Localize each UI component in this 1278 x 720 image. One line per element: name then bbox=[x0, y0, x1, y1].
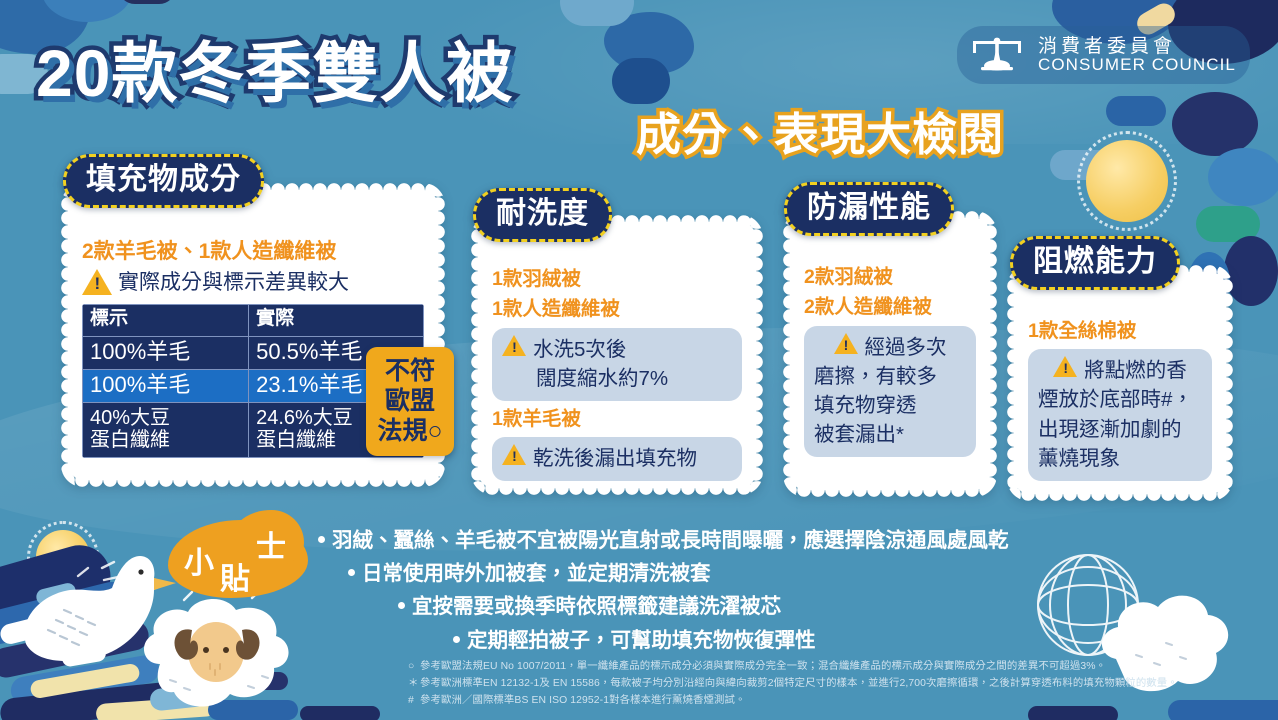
consumer-council-logo: 消費者委員會 CONSUMER COUNCIL bbox=[957, 26, 1250, 84]
footnote-text: 參考歐洲／國際標準BS EN ISO 12952-1對各樣本進行薰燒香煙測試。 bbox=[420, 695, 745, 706]
card-lead-item: 1款羊毛被 bbox=[492, 406, 742, 432]
tip-text: 羽絨、蠶絲、羊毛被不宜被陽光直射或長時間曝曬，應選擇陰涼通風處風乾 bbox=[332, 529, 1009, 552]
decor-pebble bbox=[232, 672, 288, 690]
decor-pebble bbox=[300, 706, 380, 720]
footnote-row: #參考歐洲／國際標準BS EN ISO 12952-1對各樣本進行薰燒香煙測試。 bbox=[408, 693, 1268, 710]
card-flame-retardance: 阻燃能力 1款全絲棉被 將點燃的香 煙放於底部時#， 出現逐漸加劇的 薰燒現象 bbox=[1014, 272, 1226, 494]
decor-pebble bbox=[0, 578, 132, 647]
warning-text: 將點燃的香 bbox=[1084, 356, 1187, 385]
warning-box: 經過多次 磨擦，有較多 填充物穿透 被套漏出* bbox=[804, 326, 976, 457]
table-col-label: 標示 bbox=[83, 305, 249, 336]
warning-triangle-icon bbox=[834, 333, 858, 354]
decor-blob bbox=[1208, 148, 1278, 206]
warning-text: 被套漏出* bbox=[814, 420, 966, 449]
warning-triangle-icon bbox=[502, 335, 526, 356]
warning-text: 水洗5次後 bbox=[533, 335, 626, 364]
decor-blob bbox=[1172, 92, 1258, 156]
footnote-text: 參考歐洲標準EN 12132-1及 EN 15586，每款被子均分別沿經向與緯向… bbox=[420, 678, 1178, 689]
warning-box-line: 乾洗後漏出填充物 bbox=[502, 444, 732, 473]
warning-box-line: 將點燃的香 bbox=[1038, 356, 1202, 385]
decor-blob bbox=[604, 12, 694, 74]
moon-decoration bbox=[1086, 140, 1168, 222]
warning-triangle-icon bbox=[502, 444, 526, 465]
tip-text: 宜按需要或換季時依照標籤建議洗濯被芯 bbox=[412, 595, 781, 618]
moon-decoration bbox=[36, 530, 90, 584]
warning-box: 將點燃的香 煙放於底部時#， 出現逐漸加劇的 薰燒現象 bbox=[1028, 349, 1212, 480]
footnote-row: ○參考歐盟法規EU No 1007/2011，單一纖維產品的標示成分必須與實際成… bbox=[408, 659, 1268, 676]
card-lead-filling: 2款羊毛被、1款人造纖維被 bbox=[82, 238, 424, 266]
decor-blob bbox=[0, 538, 118, 636]
footnote-mark: # bbox=[408, 693, 420, 710]
tips-badge: 小 貼 士 bbox=[168, 520, 308, 598]
footnote-mark: ＊ bbox=[408, 676, 420, 693]
decor-blob bbox=[42, 0, 132, 22]
eu-noncompliance-badge: 不符歐盟法規○ bbox=[366, 347, 454, 456]
warning-text: 闊度縮水約7% bbox=[502, 364, 732, 393]
tip-item: 羽絨、蠶絲、羊毛被不宜被陽光直射或長時間曝曬，應選擇陰涼通風處風乾 bbox=[318, 524, 1198, 557]
decor-pebble bbox=[29, 663, 140, 700]
decor-pebble bbox=[0, 618, 151, 681]
warning-triangle-icon bbox=[82, 269, 112, 295]
sheep-illustration bbox=[130, 580, 315, 720]
footnote-mark: ○ bbox=[408, 659, 420, 676]
warning-box: 水洗5次後 闊度縮水約7% bbox=[492, 328, 742, 401]
decor-pebble bbox=[35, 581, 78, 606]
warning-text: 煙放於底部時#， bbox=[1038, 385, 1202, 414]
tip-text: 日常使用時外加被套，並定期清洗被套 bbox=[362, 562, 711, 585]
footnotes: ○參考歐盟法規EU No 1007/2011，單一纖維產品的標示成分必須與實際成… bbox=[408, 659, 1268, 710]
page-subtitle: 成分、表現大檢閱 bbox=[636, 98, 1004, 163]
warning-text: 填充物穿透 bbox=[814, 391, 966, 420]
decor-blob bbox=[1106, 96, 1166, 126]
cell-label: 40%大豆蛋白纖維 bbox=[83, 402, 249, 457]
tip-item: 日常使用時外加被套，並定期清洗被套 bbox=[318, 557, 1198, 590]
card-lead-item: 1款全絲棉被 bbox=[1028, 318, 1212, 344]
warning-box-line: 經過多次 bbox=[814, 333, 966, 362]
warning-text: 磨擦，有較多 bbox=[814, 362, 966, 391]
decor-pebble bbox=[208, 700, 298, 720]
infographic-root: 20款冬季雙人被 成分、表現大檢閱 消費者委員會 CONSUMER COUNCI… bbox=[0, 0, 1278, 720]
card-lead-item: 2款人造纖維被 bbox=[804, 294, 976, 320]
tips-list: 羽絨、蠶絲、羊毛被不宜被陽光直射或長時間曝曬，應選擇陰涼通風處風乾 日常使用時外… bbox=[318, 524, 1198, 657]
card-title-wash-durability: 耐洗度 bbox=[473, 188, 612, 242]
cell-label: 100%羊毛 bbox=[83, 336, 249, 369]
decor-blob bbox=[1050, 150, 1124, 180]
warning-triangle-icon bbox=[1053, 356, 1077, 377]
bullet-dot bbox=[318, 536, 325, 543]
tip-item: 定期輕拍被子，可幫助填充物恢復彈性 bbox=[318, 624, 1198, 657]
decor-blob bbox=[560, 0, 634, 26]
balance-scale-icon bbox=[967, 32, 1027, 78]
decor-pebble bbox=[95, 696, 216, 720]
cell-label: 100%羊毛 bbox=[83, 369, 249, 402]
card-lead-item: 1款羽絨被 bbox=[492, 266, 742, 292]
card-note-filling: 實際成分與標示差異較大 bbox=[82, 269, 424, 297]
logo-name-en: CONSUMER COUNCIL bbox=[1038, 56, 1236, 73]
page-title: 20款冬季雙人被 bbox=[36, 20, 513, 116]
card-title-filling-composition: 填充物成分 bbox=[63, 154, 264, 208]
bullet-dot bbox=[398, 602, 405, 609]
tip-text: 定期輕拍被子，可幫助填充物恢復彈性 bbox=[467, 629, 816, 652]
card-title-leak-resistance: 防漏性能 bbox=[784, 182, 954, 236]
card-title-flame-retardance: 阻燃能力 bbox=[1010, 236, 1180, 290]
decor-pebble bbox=[61, 644, 107, 667]
card-lead-item: 1款人造纖維被 bbox=[492, 296, 742, 322]
card-note-text: 實際成分與標示差異較大 bbox=[118, 269, 349, 297]
decor-pebble bbox=[149, 638, 181, 656]
footnote-row: ＊參考歐洲標準EN 12132-1及 EN 15586，每款被子均分別沿經向與緯… bbox=[408, 676, 1268, 693]
tips-badge-char: 士 bbox=[256, 522, 286, 566]
decor-pebble bbox=[9, 653, 162, 707]
decor-pebble bbox=[0, 681, 181, 720]
tips-badge-char: 貼 bbox=[220, 554, 250, 598]
table-col-actual: 實際 bbox=[249, 305, 424, 336]
card-leak-resistance: 防漏性能 2款羽絨被 2款人造纖維被 經過多次 磨擦，有較多 填充物穿透 被套漏… bbox=[790, 218, 990, 490]
warning-text: 出現逐漸加劇的 bbox=[1038, 415, 1202, 444]
card-wash-durability: 耐洗度 1款羽絨被 1款人造纖維被 水洗5次後 闊度縮水約7% 1款羊毛被 乾洗… bbox=[478, 222, 756, 488]
tips-badge-char: 小 bbox=[184, 538, 214, 582]
bullet-dot bbox=[453, 636, 460, 643]
footnote-text: 參考歐盟法規EU No 1007/2011，單一纖維產品的標示成分必須與實際成分… bbox=[420, 661, 1106, 672]
decor-pebble bbox=[0, 614, 54, 646]
bullet-dot bbox=[348, 569, 355, 576]
warning-text: 薰燒現象 bbox=[1038, 444, 1202, 473]
warning-text: 經過多次 bbox=[865, 333, 947, 362]
card-filling-composition: 填充物成分 2款羊毛被、1款人造纖維被 實際成分與標示差異較大 標示 實際 10… bbox=[68, 190, 438, 480]
tip-item: 宜按需要或換季時依照標籤建議洗濯被芯 bbox=[318, 590, 1198, 623]
table-header-row: 標示 實際 bbox=[83, 305, 424, 336]
logo-name-cn: 消費者委員會 bbox=[1038, 37, 1236, 56]
decor-blob bbox=[1196, 206, 1260, 242]
warning-box: 乾洗後漏出填充物 bbox=[492, 437, 742, 481]
decor-blob bbox=[118, 0, 176, 4]
decor-pebble bbox=[149, 682, 221, 711]
warning-text: 乾洗後漏出填充物 bbox=[533, 444, 697, 473]
card-lead-item: 2款羽絨被 bbox=[804, 264, 976, 290]
warning-box-line: 水洗5次後 bbox=[502, 335, 732, 364]
